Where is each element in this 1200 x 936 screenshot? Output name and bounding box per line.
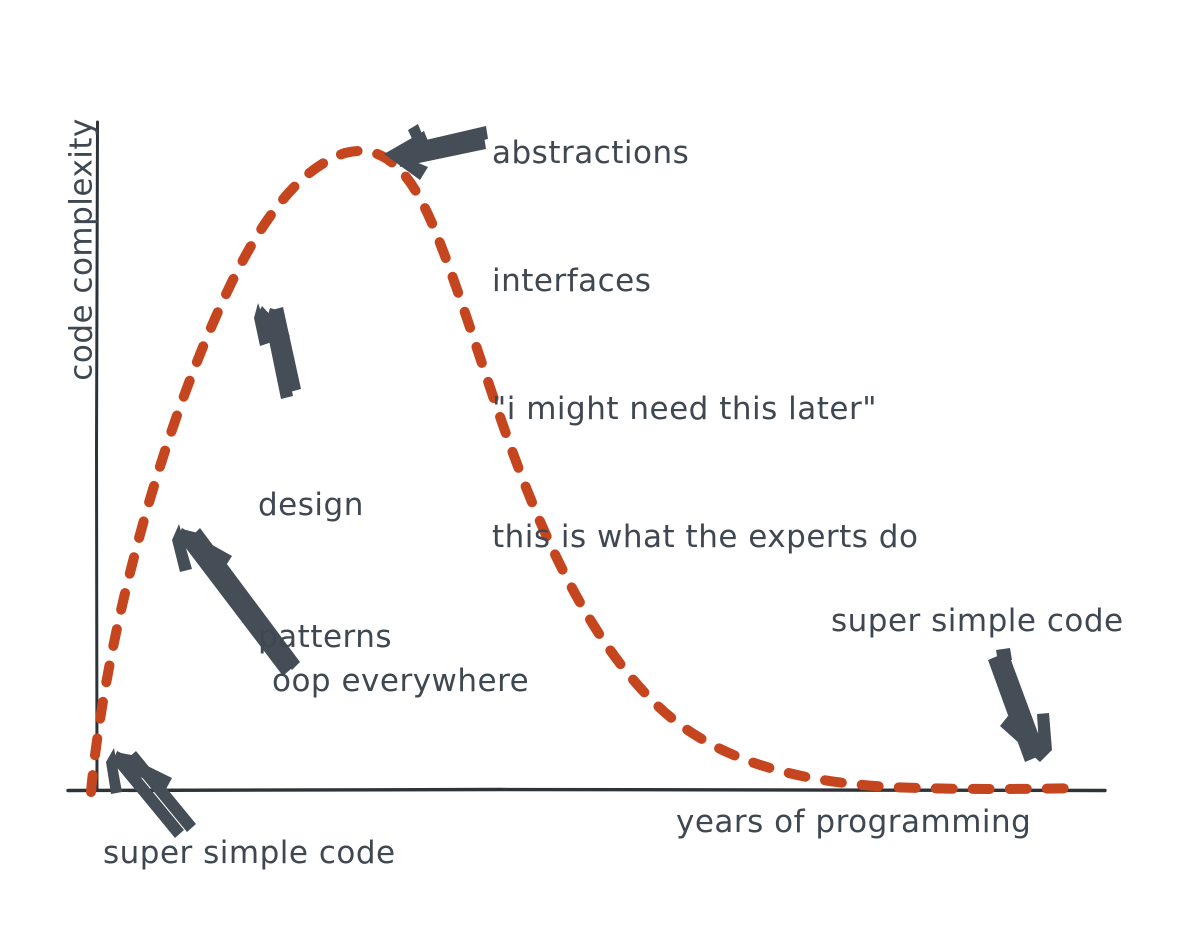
simple-left-arrow-icon: [106, 748, 196, 838]
design-patterns-arrow-icon: [254, 303, 301, 399]
annotation-peak: abstractions interfaces "i might need th…: [492, 46, 918, 645]
peak-arrow-icon: [384, 124, 488, 180]
annotation-design-patterns-line-1: design: [258, 483, 392, 527]
annotation-super-simple-code-left: super simple code: [103, 832, 396, 875]
annotation-peak-line-3: "i might need this later": [492, 388, 918, 431]
annotation-design-patterns-line-2: patterns: [258, 615, 392, 659]
annotation-super-simple-code-right: super simple code: [831, 600, 1124, 643]
simple-right-arrow-icon: [988, 648, 1052, 762]
annotation-oop-everywhere: oop everywhere: [272, 660, 529, 703]
annotation-peak-line-4: this is what the experts do: [492, 516, 918, 559]
annotation-peak-line-2: interfaces: [492, 260, 918, 303]
x-axis-label: years of programming: [676, 801, 1031, 844]
y-axis-label: code complexity: [61, 109, 104, 389]
hand-drawn-chart: code complexity years of programming abs…: [0, 0, 1200, 936]
annotation-peak-line-1: abstractions: [492, 132, 918, 175]
